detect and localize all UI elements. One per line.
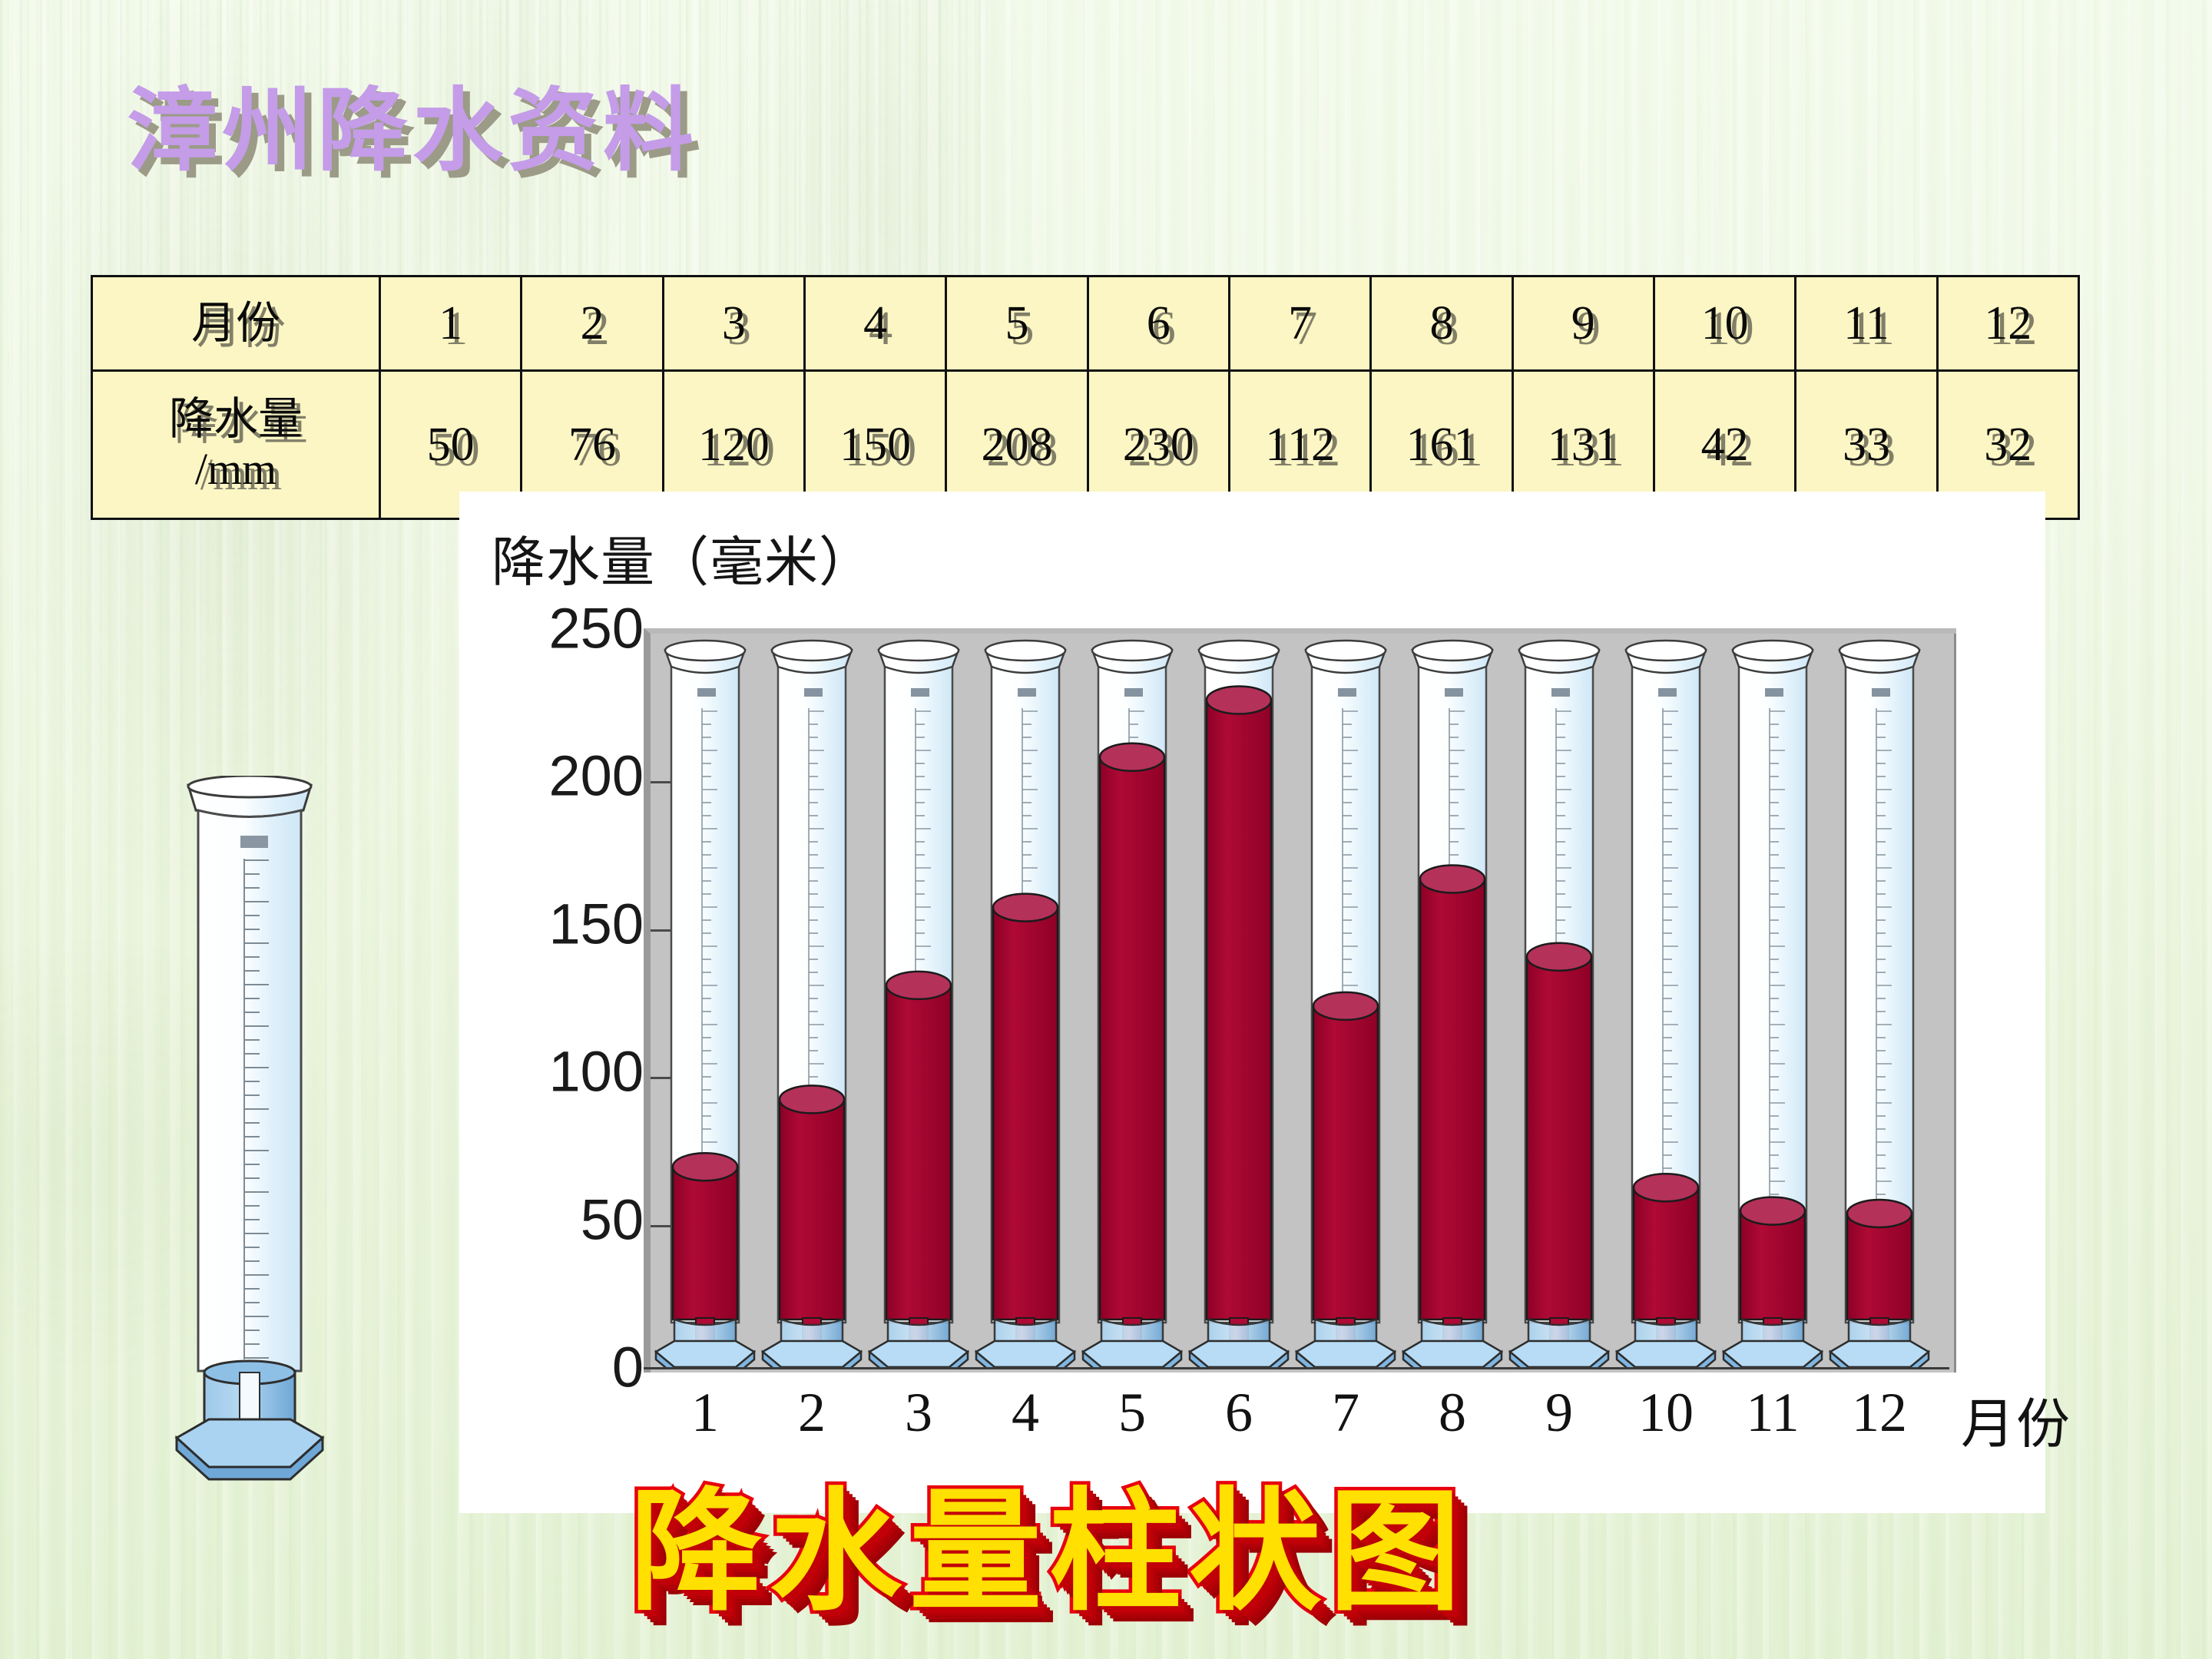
- precipitation-data-table: 月份 1 2 3 4 5 6 7 8 9 10 11 12 降水量 /mm 50: [91, 275, 2080, 520]
- bar-cylinder-month-4: [975, 628, 1076, 1367]
- bar-cylinder-month-7: [1295, 628, 1396, 1367]
- table-cell-month-12: 12: [1937, 276, 2078, 371]
- bar-cylinder-month-3: [868, 628, 969, 1367]
- bar-cylinder-month-9: [1508, 628, 1610, 1367]
- bar-cylinder-month-2: [761, 628, 863, 1367]
- table-cell-month-9: 9: [1512, 276, 1654, 371]
- slide-canvas: 漳州降水资料 月份 1 2 3 4 5 6 7 8 9 10 11 12 降水量: [0, 0, 2212, 1659]
- x-tick-label-11: 11: [1722, 1381, 1823, 1445]
- x-axis-line: [644, 1367, 1949, 1369]
- x-tick-label-6: 6: [1188, 1381, 1290, 1445]
- table-header-month-label: 月份: [92, 276, 380, 371]
- x-tick-label-4: 4: [975, 1381, 1076, 1445]
- x-tick-label-12: 12: [1829, 1381, 1930, 1445]
- table-cell-month-10: 10: [1654, 276, 1795, 371]
- x-tick-label-7: 7: [1295, 1381, 1396, 1445]
- y-tick-200: 200: [452, 743, 644, 809]
- y-tick-0: 0: [452, 1335, 644, 1400]
- x-tick-label-5: 5: [1081, 1381, 1183, 1445]
- table-cell-month-2: 2: [522, 276, 663, 371]
- y-tick-150: 150: [452, 892, 644, 957]
- x-tick-label-1: 1: [654, 1381, 756, 1445]
- table-cell-month-6: 6: [1088, 276, 1229, 371]
- x-tick-label-3: 3: [868, 1381, 969, 1445]
- table-header-amount-label: 降水量 /mm: [92, 371, 380, 519]
- table-cell-month-3: 3: [663, 276, 804, 371]
- y-tick-250: 250: [452, 596, 644, 661]
- bar-cylinder-month-6: [1188, 628, 1290, 1367]
- chart-wordart-title: 降水量柱状图: [630, 1444, 1469, 1636]
- table-cell-month-1: 1: [380, 276, 522, 371]
- bar-cylinder-month-11: [1722, 628, 1823, 1367]
- page-title: 漳州降水资料: [127, 84, 698, 180]
- bar-cylinder-month-1: [654, 628, 756, 1367]
- plot-area: [644, 628, 1949, 1367]
- table-cell-month-11: 11: [1796, 276, 1937, 371]
- bar-cylinder-month-5: [1081, 628, 1183, 1367]
- x-tick-label-9: 9: [1508, 1381, 1610, 1445]
- x-tick-label-2: 2: [761, 1381, 863, 1445]
- y-tick-50: 50: [452, 1187, 644, 1253]
- x-tick-label-10: 10: [1615, 1381, 1717, 1445]
- chart-x-axis-title: 月份: [1961, 1381, 2071, 1459]
- bar-cylinder-month-10: [1615, 628, 1717, 1367]
- precipitation-bar-chart: 降水量（毫米） 250 200 150 100 50 0: [459, 492, 2045, 1513]
- bar-cylinder-month-8: [1402, 628, 1503, 1367]
- amount-label-line2: /mm: [93, 445, 379, 495]
- bar-cylinder-month-12: [1829, 628, 1930, 1367]
- x-tick-label-8: 8: [1402, 1381, 1503, 1445]
- y-tick-100: 100: [452, 1039, 644, 1104]
- table-cell-month-7: 7: [1229, 276, 1370, 371]
- measuring-cylinder-illustration: [154, 776, 346, 1490]
- bar-series: [644, 628, 1949, 1367]
- amount-label-line1: 降水量: [93, 395, 379, 445]
- table-cell-month-4: 4: [804, 276, 945, 371]
- table-row-months: 月份 1 2 3 4 5 6 7 8 9 10 11 12: [92, 276, 2079, 371]
- table-cell-month-5: 5: [946, 276, 1088, 371]
- table-cell-month-8: 8: [1371, 276, 1512, 371]
